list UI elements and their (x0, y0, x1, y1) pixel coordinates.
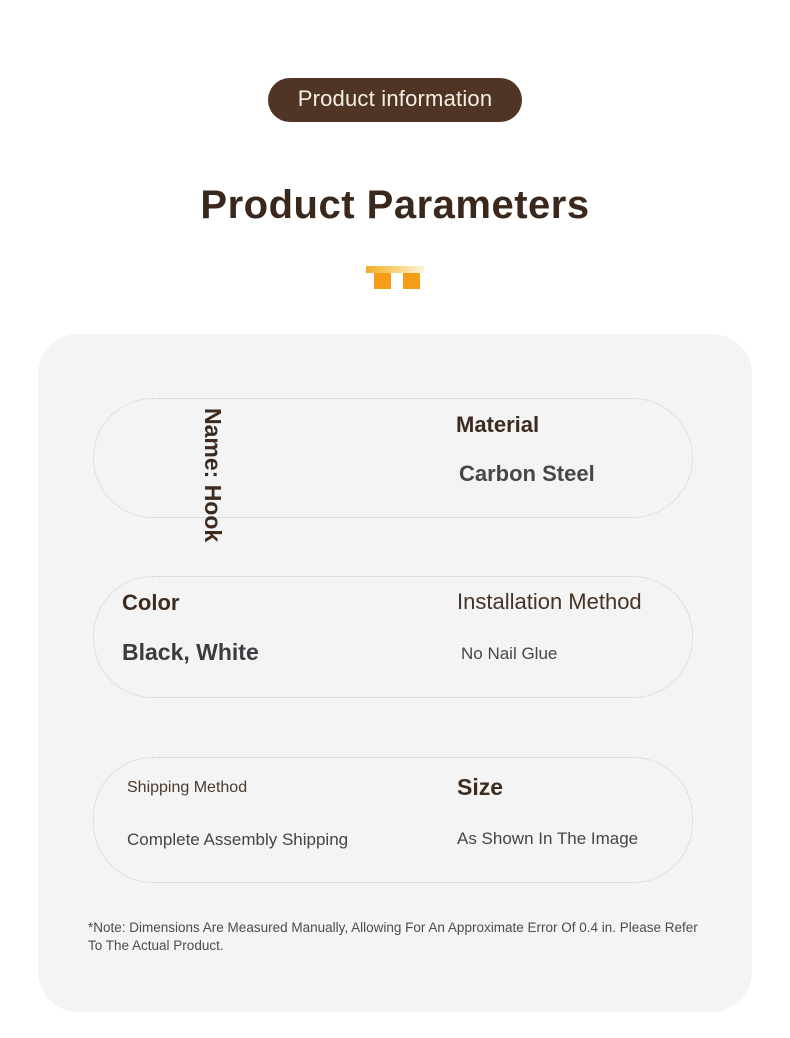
ornament-square-right-icon (403, 273, 420, 289)
spec-row-1-right-label: Material (456, 413, 539, 437)
spec-row-2-right-value: No Nail Glue (461, 645, 557, 664)
measurement-note: *Note: Dimensions Are Measured Manually,… (88, 919, 708, 955)
spec-row-1 (93, 398, 693, 518)
spec-row-3-right-label: Size (457, 775, 503, 800)
product-parameters-card: Name: Hook Material Carbon Steel Color B… (38, 334, 752, 1012)
spec-row-3-left-label: Shipping Method (127, 779, 247, 797)
spec-row-3-right-value: As Shown In The Image (457, 830, 638, 849)
product-information-badge-row: Product information (0, 78, 790, 122)
ornament-gradient-bar-icon (366, 266, 424, 273)
ornament-square-left-icon (374, 273, 391, 289)
ornament-inner (366, 264, 424, 298)
product-information-badge: Product information (268, 78, 523, 122)
page-title: Product Parameters (0, 182, 790, 228)
spec-row-1-left-label: Name: Hook (201, 408, 224, 542)
spec-row-3-left-value: Complete Assembly Shipping (127, 831, 348, 850)
spec-row-2-left-value: Black, White (122, 640, 259, 665)
spec-row-1-right-value: Carbon Steel (459, 462, 595, 486)
spec-row-2-right-label: Installation Method (457, 590, 642, 614)
spec-row-3 (93, 757, 693, 883)
decorative-ornament (0, 264, 790, 298)
spec-row-2-left-label: Color (122, 591, 179, 615)
